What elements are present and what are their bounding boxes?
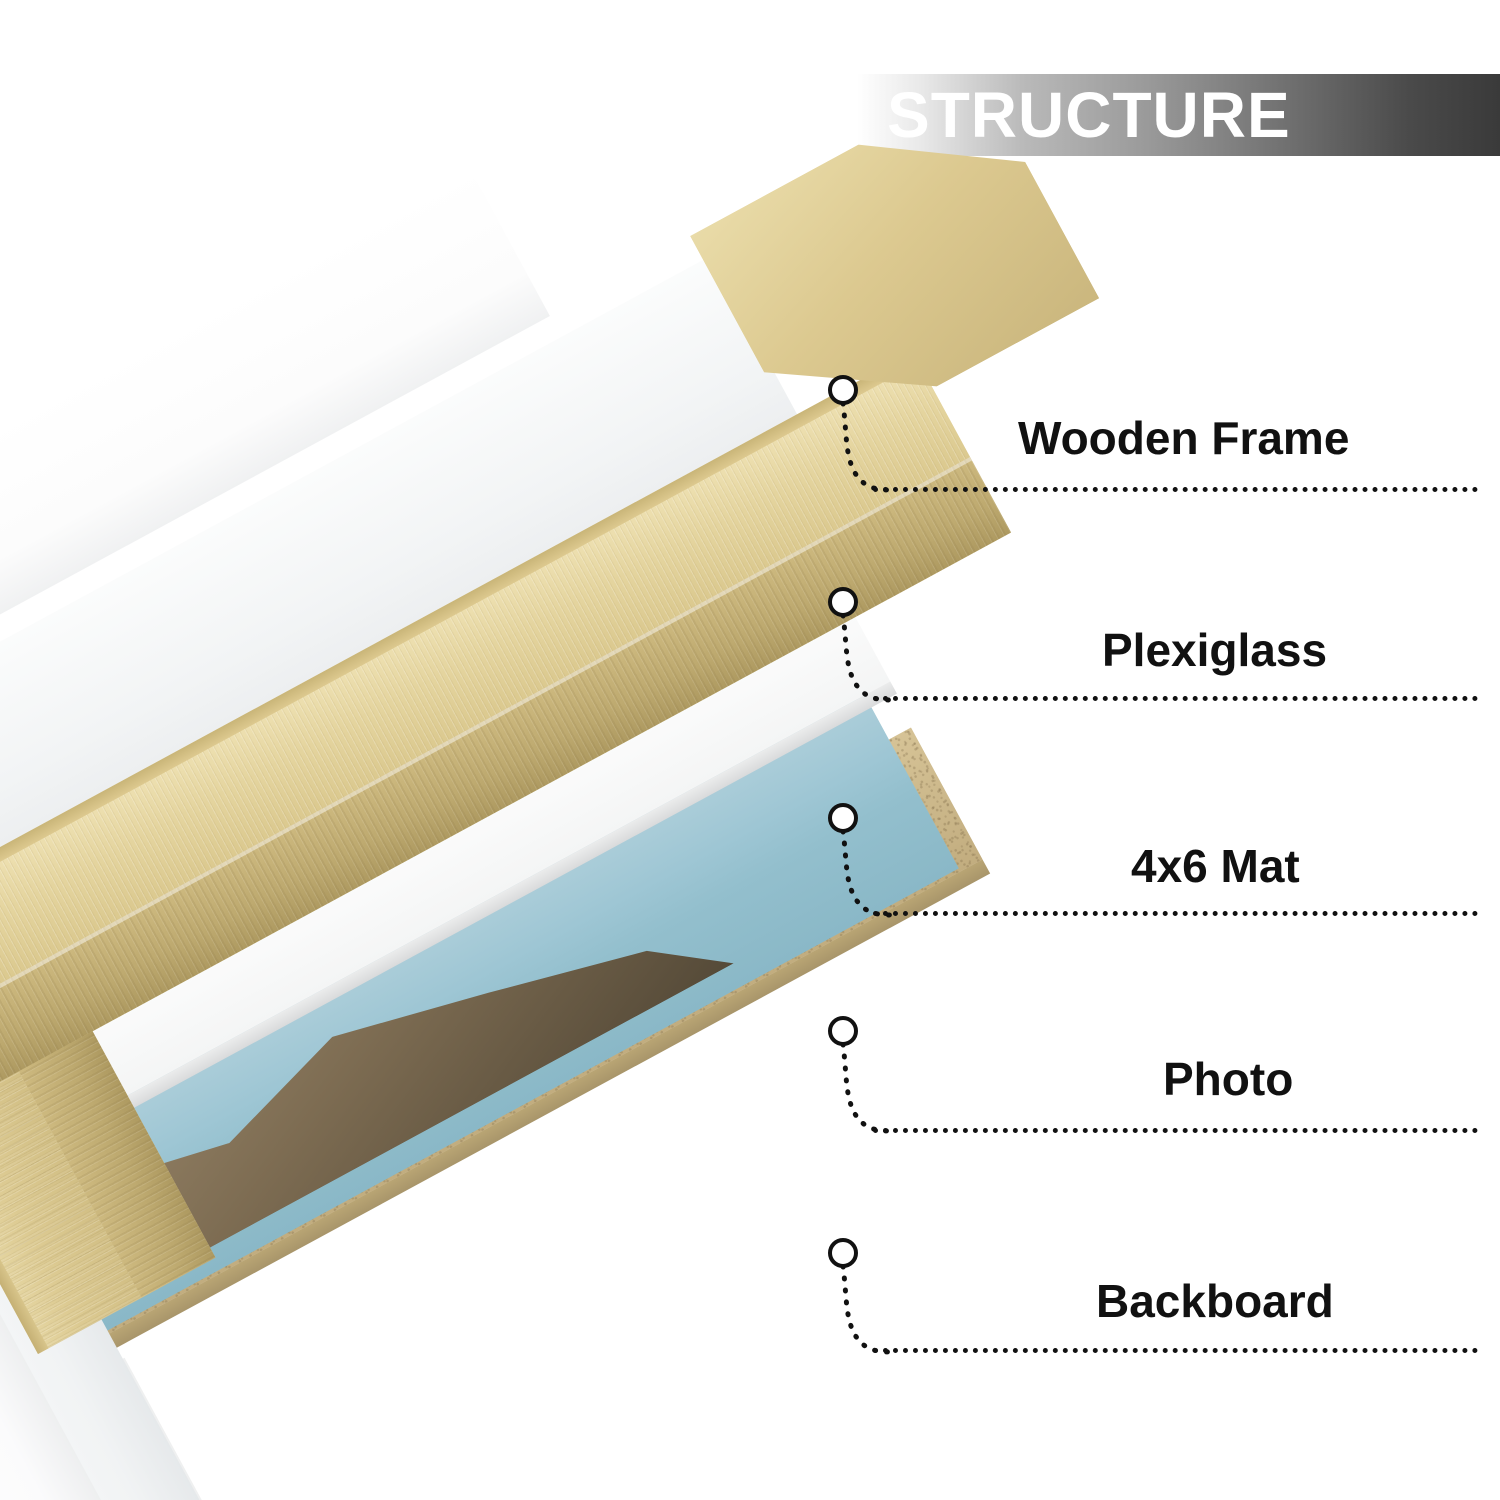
structure-banner: STRUCTURE xyxy=(857,74,1500,156)
callout-rule-mat xyxy=(873,911,1478,916)
callout-rule-backboard xyxy=(873,1348,1478,1353)
callout-label-plexiglass: Plexiglass xyxy=(1102,627,1327,673)
callout-leader-photo xyxy=(820,1036,900,1141)
callout-marker-mat[interactable] xyxy=(828,803,858,833)
banner-title: STRUCTURE xyxy=(887,83,1291,147)
callout-leader-mat xyxy=(820,823,900,924)
callout-label-photo: Photo xyxy=(1163,1056,1293,1102)
callout-leader-plexiglass xyxy=(820,607,900,709)
callout-marker-backboard[interactable] xyxy=(828,1238,858,1268)
callout-label-backboard: Backboard xyxy=(1096,1278,1334,1324)
callout-rule-plexiglass xyxy=(873,696,1478,701)
callout-marker-photo[interactable] xyxy=(828,1016,858,1046)
callout-leader-backboard xyxy=(820,1258,900,1361)
callout-label-mat: 4x6 Mat xyxy=(1131,843,1300,889)
callout-leader-wooden-frame xyxy=(820,395,900,500)
callout-marker-plexiglass[interactable] xyxy=(828,587,858,617)
callout-marker-wooden-frame[interactable] xyxy=(828,375,858,405)
callout-rule-photo xyxy=(873,1128,1478,1133)
callout-label-wooden-frame: Wooden Frame xyxy=(1018,415,1349,461)
infographic-canvas: STRUCTURE Wooden Frame Plexiglass 4x6 Ma… xyxy=(0,0,1500,1500)
callout-rule-wooden-frame xyxy=(873,487,1478,492)
